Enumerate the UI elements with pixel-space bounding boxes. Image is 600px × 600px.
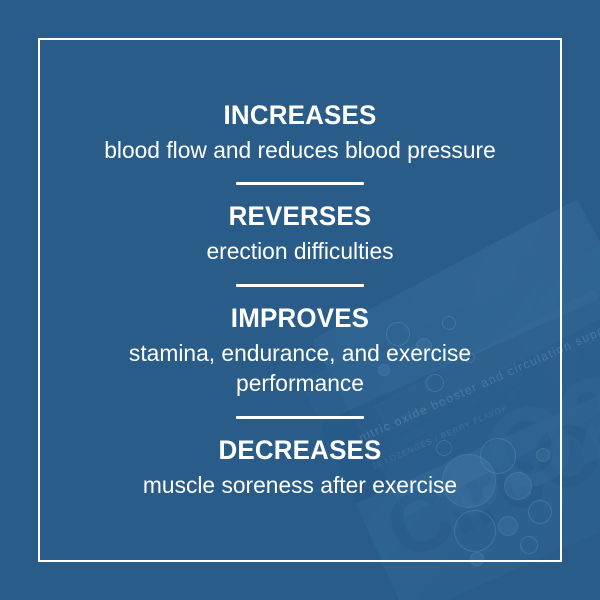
section-divider bbox=[236, 284, 364, 287]
benefit-body: blood flow and reduces blood pressure bbox=[67, 135, 533, 166]
benefit-title: REVERSES bbox=[70, 201, 531, 233]
benefit-item-improves: IMPROVES stamina, endurance, and exercis… bbox=[60, 303, 540, 399]
benefit-title: INCREASES bbox=[70, 100, 531, 132]
benefits-graphic: nitric oxide booster and circulation sup… bbox=[0, 0, 600, 600]
section-divider bbox=[236, 416, 364, 419]
benefits-list: INCREASES blood flow and reduces blood p… bbox=[60, 38, 540, 562]
benefit-body: erection difficulties bbox=[67, 236, 533, 267]
benefit-body: stamina, endurance, and exercise perform… bbox=[67, 338, 533, 399]
benefit-title: DECREASES bbox=[70, 435, 531, 467]
benefit-item-reverses: REVERSES erection difficulties bbox=[60, 201, 540, 266]
benefit-title: IMPROVES bbox=[70, 303, 531, 335]
benefit-item-decreases: DECREASES muscle soreness after exercise bbox=[60, 435, 540, 500]
benefit-item-increases: INCREASES blood flow and reduces blood p… bbox=[60, 100, 540, 165]
benefit-body: muscle soreness after exercise bbox=[67, 470, 533, 501]
section-divider bbox=[236, 182, 364, 185]
